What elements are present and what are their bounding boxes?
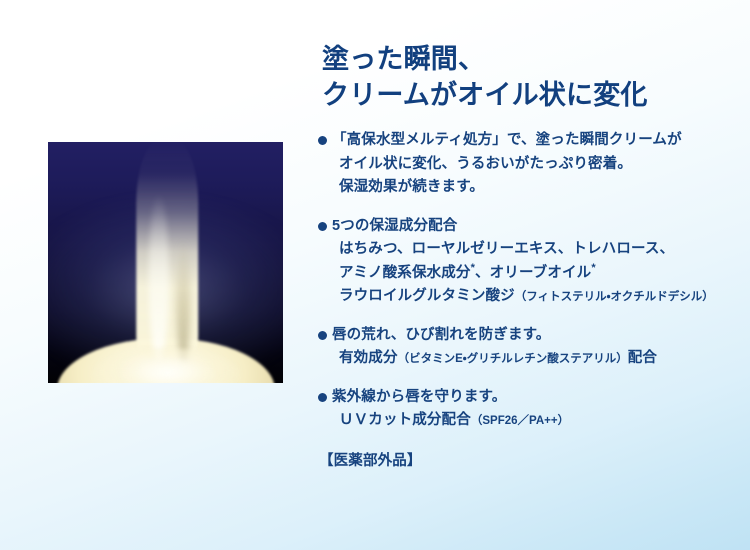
feature-lead-line: 5つの保湿成分配合 bbox=[318, 215, 736, 238]
footnote-marker: * bbox=[591, 262, 595, 274]
feature-lead-text: 「高保水型メルティ処方」で、塗った瞬間クリームが bbox=[332, 129, 736, 152]
copy-column: 塗った瞬間、 クリームがオイル状に変化 「高保水型メルティ処方」で、塗った瞬間ク… bbox=[318, 42, 736, 470]
feature-block-melty-formula: 「高保水型メルティ処方」で、塗った瞬間クリームが オイル状に変化、うるおいがたっ… bbox=[318, 129, 736, 199]
feature-lead-text: 唇の荒れ、ひび割れを防ぎます。 bbox=[332, 324, 736, 347]
footnote-marker: * bbox=[471, 262, 475, 274]
quasi-drug-notice: 【医薬部外品】 bbox=[319, 449, 736, 470]
feature-lead-text: 5つの保湿成分配合 bbox=[332, 215, 736, 238]
ingredient-note: （フィトステリル・オクチルドデシル） bbox=[515, 291, 714, 303]
feature-lead-line: 唇の荒れ、ひび割れを防ぎます。 bbox=[318, 324, 736, 347]
uv-spec-prefix: ＵＶカット成分配合 bbox=[339, 412, 471, 428]
feature-detail-line: オイル状に変化、うるおいがたっぷり密着。 bbox=[339, 153, 736, 176]
bullet-dot-icon bbox=[318, 331, 327, 340]
feature-block-lip-care: 唇の荒れ、ひび割れを防ぎます。 有効成分（ビタミンE・グリチルレチン酸ステアリル… bbox=[318, 324, 736, 371]
feature-block-uv-protection: 紫外線から唇を守ります。 ＵＶカット成分配合（SPF26／PA++） bbox=[318, 386, 736, 433]
ingredient-line: はちみつ、ローヤルゼリーエキス、トレハロース、 bbox=[339, 238, 736, 261]
feature-detail-line: 保湿効果が続きます。 bbox=[339, 176, 736, 199]
uv-spec-line: ＵＶカット成分配合（SPF26／PA++） bbox=[339, 409, 736, 432]
ad-page: 塗った瞬間、 クリームがオイル状に変化 「高保水型メルティ処方」で、塗った瞬間ク… bbox=[0, 0, 750, 550]
product-image bbox=[48, 142, 283, 383]
ingredient-line: アミノ酸系保水成分*、オリーブオイル* bbox=[339, 262, 736, 285]
active-ingredient-line: 有効成分（ビタミンE・グリチルレチン酸ステアリル）配合 bbox=[339, 347, 736, 370]
bullet-dot-icon bbox=[318, 136, 327, 145]
active-ingredient-suffix: 配合 bbox=[628, 350, 657, 366]
headline-line-2: クリームがオイル状に変化 bbox=[322, 78, 736, 114]
headline-line-1: 塗った瞬間、 bbox=[322, 42, 736, 78]
page-title: 塗った瞬間、 クリームがオイル状に変化 bbox=[322, 42, 736, 113]
uv-spec-note: （SPF26／PA++） bbox=[471, 415, 569, 427]
active-ingredient-prefix: 有効成分 bbox=[339, 350, 398, 366]
feature-lead-line: 紫外線から唇を守ります。 bbox=[318, 386, 736, 409]
bullet-dot-icon bbox=[318, 222, 327, 231]
active-ingredient-note: （ビタミンE・グリチルレチン酸ステアリル） bbox=[398, 353, 628, 365]
ingredient-detail-line: ラウロイルグルタミン酸ジ（フィトステリル・オクチルドデシル） bbox=[339, 285, 736, 308]
feature-block-moisturizing-ingredients: 5つの保湿成分配合 はちみつ、ローヤルゼリーエキス、トレハロース、 アミノ酸系保… bbox=[318, 215, 736, 309]
cream-stream-shadow bbox=[176, 238, 190, 364]
bullet-dot-icon bbox=[318, 393, 327, 402]
feature-lead-text: 紫外線から唇を守ります。 bbox=[332, 386, 736, 409]
feature-lead-line: 「高保水型メルティ処方」で、塗った瞬間クリームが bbox=[318, 129, 736, 152]
ingredient-name: ラウロイルグルタミン酸ジ bbox=[339, 288, 515, 304]
cream-stream-highlight bbox=[148, 194, 168, 362]
